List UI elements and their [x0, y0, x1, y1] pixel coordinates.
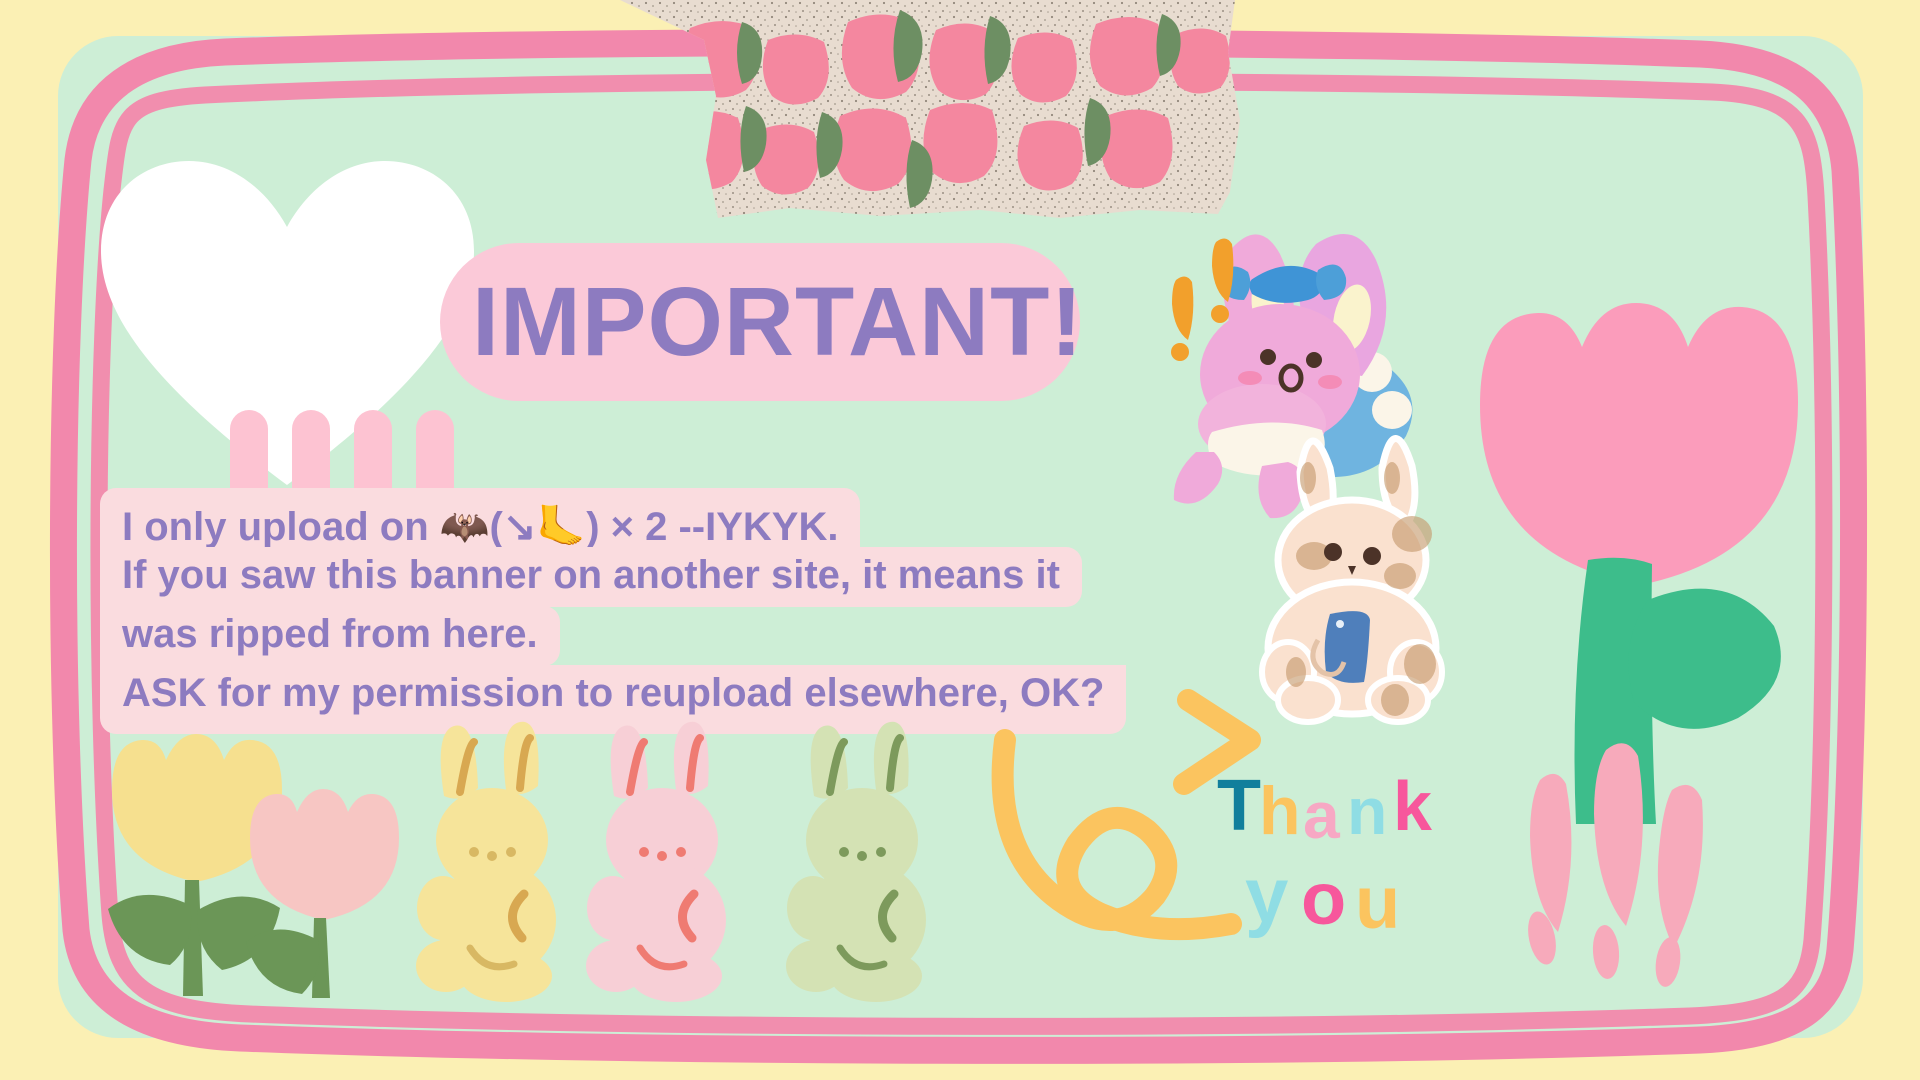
gummy-bunny-pink	[586, 722, 726, 1002]
banner-canvas: IMPORTANT! I only upload on 🦇(↘🦶) × 2 --…	[0, 0, 1920, 1080]
gummy-bunny-green	[786, 722, 926, 1002]
gummy-bunny-yellow	[416, 722, 556, 1002]
gummy-bunnies	[0, 0, 1920, 1080]
